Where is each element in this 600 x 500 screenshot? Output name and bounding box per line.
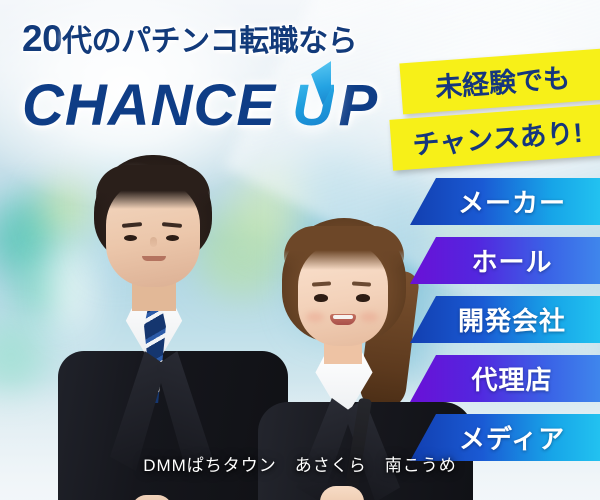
caption-person-2: 南こうめ [385,456,457,475]
category-item-developer[interactable]: 開発会社 [410,296,600,343]
man-eyebrow [122,222,142,228]
woman-hand [320,486,364,500]
category-label: 代理店 [457,360,552,397]
woman-eyebrow [352,281,371,286]
category-item-agency[interactable]: 代理店 [410,355,600,402]
category-label: 開発会社 [444,301,566,338]
category-item-hall[interactable]: ホール [410,237,600,284]
woman-eye [314,294,328,302]
woman-eye [356,294,370,302]
woman-blush [360,312,378,322]
woman-fringe [284,226,404,270]
experience-badge: 未経験でも チャンスあり! [389,56,600,163]
woman-mouth [330,314,356,325]
logo-chance-word: CHANCE [22,72,276,139]
bottom-caption: DMMぱちタウンあさくら南こうめ [0,451,600,476]
category-label: メーカー [444,183,566,220]
category-label: ホール [457,242,552,279]
chance-up-logo: CHANCE U P [22,72,377,139]
badge-line-2: チャンスあり! [389,104,600,170]
man-nose [150,237,157,247]
caption-site: DMMぱちタウン [143,456,277,475]
photo-businessman [58,155,288,500]
man-eye [124,235,137,241]
man-eye [166,235,179,241]
category-list: メーカー ホール 開発会社 代理店 メディア [410,178,600,473]
badge-line-1: 未経験でも [399,49,600,115]
logo-up-group: U P [292,72,377,139]
headline-number: 20 [22,18,62,59]
man-fringe [96,165,210,209]
category-item-maker[interactable]: メーカー [410,178,600,225]
logo-letter-p: P [338,73,377,138]
headline-text: 代のパチンコ転職なら [62,25,357,58]
man-eyebrow [162,222,182,228]
woman-blush [306,312,324,322]
recruitment-banner: 20代のパチンコ転職なら CHANCE U P 未経験でも チャンスあり! メー… [0,0,600,500]
headline: 20代のパチンコ転職なら [22,16,357,60]
man-mouth [142,256,166,261]
woman-eyebrow [312,281,331,286]
caption-person-1: あさくら [295,456,367,475]
